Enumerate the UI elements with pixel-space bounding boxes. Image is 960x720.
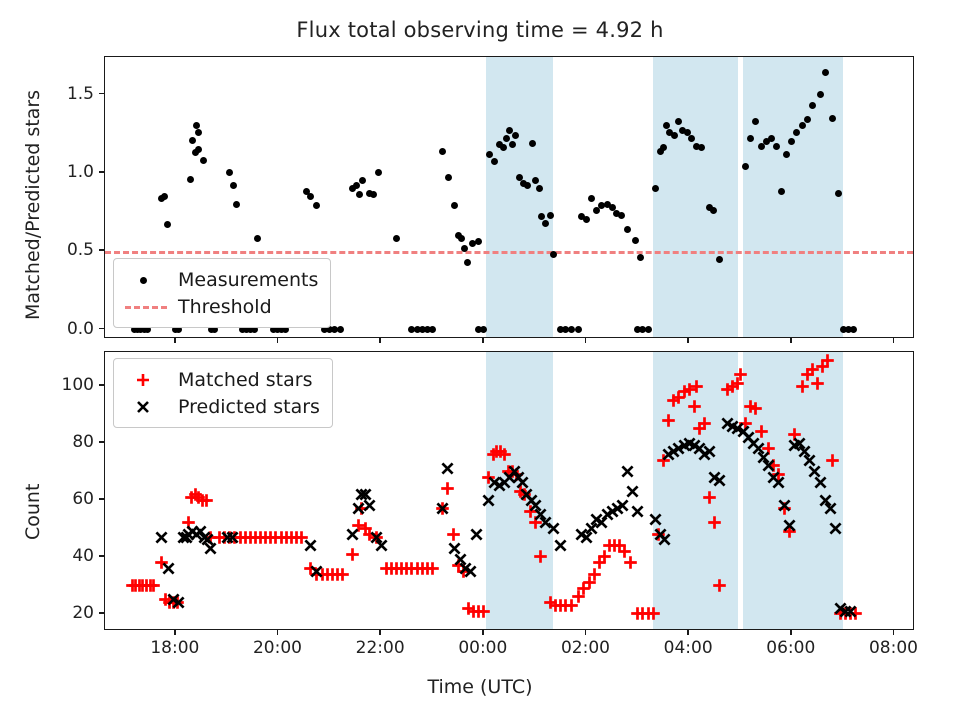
dashed-line-icon (123, 297, 169, 317)
data-point (783, 151, 790, 158)
data-point (637, 254, 644, 261)
matched-star-marker (810, 376, 825, 391)
predicted-star-marker (782, 518, 797, 533)
x-tickmark (790, 630, 792, 635)
data-point (353, 182, 360, 189)
legend-item-predicted-stars: Predicted stars (123, 393, 320, 420)
data-point (588, 195, 595, 202)
predicted-star-marker (843, 604, 858, 619)
count-y-tickmark (99, 441, 104, 443)
data-point (200, 157, 207, 164)
predicted-star-marker (620, 464, 635, 479)
ratio-y-tickmark (99, 93, 104, 95)
x-tickmark (687, 338, 689, 343)
count-y-tick-label: 60 (36, 489, 94, 509)
predicted-star-marker (171, 595, 186, 610)
legend-label: Matched stars (178, 369, 312, 391)
predicted-star-marker (374, 538, 389, 553)
dot-marker-icon (123, 270, 169, 290)
matched-star-marker (697, 416, 712, 431)
cross-marker-icon (123, 397, 169, 417)
predicted-star-marker (625, 484, 640, 499)
data-point (307, 193, 314, 200)
x-tick-label: 02:00 (540, 638, 630, 658)
x-tickmark (585, 338, 587, 343)
predicted-star-marker (813, 475, 828, 490)
data-point (445, 174, 452, 181)
data-point (461, 245, 468, 252)
data-point (189, 137, 196, 144)
count-y-tick-label: 80 (36, 432, 94, 452)
predicted-star-marker (823, 501, 838, 516)
predicted-star-marker (712, 473, 727, 488)
matched-star-marker (440, 481, 455, 496)
predicted-star-marker (615, 498, 630, 513)
predicted-star-marker (469, 527, 484, 542)
count-y-tickmark (99, 498, 104, 500)
predicted-star-marker (553, 538, 568, 553)
data-point (233, 201, 240, 208)
data-point (439, 148, 446, 155)
matched-star-marker (497, 447, 512, 462)
matched-star-marker (712, 578, 727, 593)
count-y-tick-label: 20 (36, 603, 94, 623)
x-tickmark (893, 630, 895, 635)
matched-star-marker (345, 547, 360, 562)
matched-star-marker (623, 555, 638, 570)
x-tick-label: 06:00 (746, 638, 836, 658)
data-point (632, 237, 639, 244)
x-axis-label: Time (UTC) (0, 676, 960, 698)
matched-star-marker (476, 604, 491, 619)
predicted-star-marker (771, 475, 786, 490)
data-point (799, 122, 806, 129)
shaded-interval-3 (743, 352, 843, 629)
predicted-star-marker (176, 530, 191, 545)
predicted-star-marker (463, 564, 478, 579)
predicted-star-marker (435, 501, 450, 516)
shaded-interval-2 (653, 57, 738, 337)
data-point (804, 116, 811, 123)
data-point (618, 212, 625, 219)
ratio-y-tick-label: 1.5 (36, 84, 94, 104)
predicted-star-marker (657, 532, 672, 547)
matched-star-marker (825, 453, 840, 468)
predicted-star-marker (203, 541, 218, 556)
data-point (195, 129, 202, 136)
predicted-star-marker (154, 530, 169, 545)
page-title: Flux total observing time = 4.92 h (0, 18, 960, 42)
data-point (164, 221, 171, 228)
count-legend: Matched stars Predicted stars (113, 358, 333, 428)
ratio-y-tick-label: 0.5 (36, 240, 94, 260)
data-point (451, 202, 458, 209)
legend-item-matched-stars: Matched stars (123, 366, 320, 393)
matched-star-marker (748, 401, 763, 416)
x-tickmark (482, 338, 484, 343)
data-point (161, 193, 168, 200)
count-y-tick-label: 100 (36, 375, 94, 395)
x-tickmark (585, 630, 587, 635)
figure-canvas: Flux total observing time = 4.92 h Match… (0, 0, 960, 720)
legend-label: Threshold (178, 296, 272, 318)
x-tickmark (482, 630, 484, 635)
predicted-star-marker (161, 561, 176, 576)
predicted-star-marker (648, 512, 663, 527)
x-tickmark (379, 630, 381, 635)
x-tick-label: 20:00 (232, 638, 322, 658)
predicted-star-marker (702, 444, 717, 459)
data-point (370, 191, 377, 198)
matched-star-marker (820, 353, 835, 368)
ratio-y-tick-label: 1.0 (36, 162, 94, 182)
ratio-y-tickmark (99, 328, 104, 330)
predicted-star-marker (777, 498, 792, 513)
ratio-y-tick-label: 0.0 (36, 319, 94, 339)
count-y-tickmark (99, 612, 104, 614)
predicted-star-marker (345, 527, 360, 542)
data-point (547, 212, 554, 219)
data-point (768, 135, 775, 142)
predicted-star-marker (309, 564, 324, 579)
legend-item-measurements: Measurements (123, 266, 318, 293)
ratio-legend: Measurements Threshold (113, 258, 331, 328)
legend-label: Measurements (178, 269, 318, 291)
data-point (568, 326, 575, 333)
matched-star-marker (335, 567, 350, 582)
matched-star-marker (446, 527, 461, 542)
data-point (512, 132, 519, 139)
predicted-star-marker (362, 498, 377, 513)
x-tickmark (893, 338, 895, 343)
predicted-star-marker (440, 461, 455, 476)
data-point (356, 191, 363, 198)
legend-label: Predicted stars (178, 396, 320, 418)
data-point (529, 140, 536, 147)
ratio-y-tickmark (99, 249, 104, 251)
data-point (850, 326, 857, 333)
count-y-tickmark (99, 384, 104, 386)
predicted-star-marker (303, 538, 318, 553)
matched-star-marker (733, 367, 748, 382)
data-point (809, 102, 816, 109)
data-point (829, 115, 836, 122)
matched-star-marker (707, 515, 722, 530)
ratio-y-axis-label: Matched/Predicted stars (22, 90, 44, 320)
data-point (375, 169, 382, 176)
data-point (393, 235, 400, 242)
matched-star-marker (687, 399, 702, 414)
data-point (475, 238, 482, 245)
matched-star-marker (199, 493, 214, 508)
predicted-star-marker (225, 530, 240, 545)
matched-star-marker (689, 379, 704, 394)
data-point (575, 326, 582, 333)
data-point (187, 176, 194, 183)
x-tick-label: 04:00 (643, 638, 733, 658)
ratio-y-tickmark (99, 171, 104, 173)
matched-star-marker (702, 490, 717, 505)
predicted-star-marker (546, 521, 561, 536)
x-tickmark (174, 338, 176, 343)
data-point (835, 190, 842, 197)
data-point (195, 146, 202, 153)
matched-star-marker (661, 413, 676, 428)
x-tickmark (687, 630, 689, 635)
x-tickmark (174, 630, 176, 635)
data-point (313, 202, 320, 209)
x-tickmark (379, 338, 381, 343)
predicted-star-marker (481, 493, 496, 508)
x-tick-label: 00:00 (438, 638, 528, 658)
x-tickmark (277, 630, 279, 635)
data-point (583, 216, 590, 223)
data-point (464, 259, 471, 266)
matched-star-marker (646, 606, 661, 621)
matched-star-marker (425, 561, 440, 576)
data-point (458, 235, 465, 242)
data-point (532, 177, 539, 184)
x-tick-label: 08:00 (848, 638, 938, 658)
data-point (429, 326, 436, 333)
data-point (254, 235, 261, 242)
shaded-interval-3 (743, 57, 843, 337)
predicted-star-marker (630, 504, 645, 519)
x-tickmark (277, 338, 279, 343)
matched-star-marker (533, 549, 548, 564)
data-point (359, 177, 366, 184)
x-tick-label: 22:00 (335, 638, 425, 658)
data-point (550, 251, 557, 258)
data-point (773, 143, 780, 150)
threshold-line (105, 251, 913, 254)
x-tick-label: 18:00 (130, 638, 220, 658)
data-point (822, 69, 829, 76)
count-y-tick-label: 40 (36, 546, 94, 566)
matched-star-marker (146, 578, 161, 593)
data-point (542, 220, 549, 227)
data-point (503, 135, 510, 142)
data-point (337, 326, 344, 333)
data-point (536, 185, 543, 192)
plus-marker-icon (123, 370, 169, 390)
count-y-tickmark (99, 555, 104, 557)
x-tickmark (790, 338, 792, 343)
data-point (817, 91, 824, 98)
legend-item-threshold: Threshold (123, 293, 318, 320)
data-point (226, 169, 233, 176)
shaded-interval-1 (486, 57, 553, 337)
data-point (624, 226, 631, 233)
data-point (230, 182, 237, 189)
data-point (645, 326, 652, 333)
predicted-star-marker (828, 521, 843, 536)
